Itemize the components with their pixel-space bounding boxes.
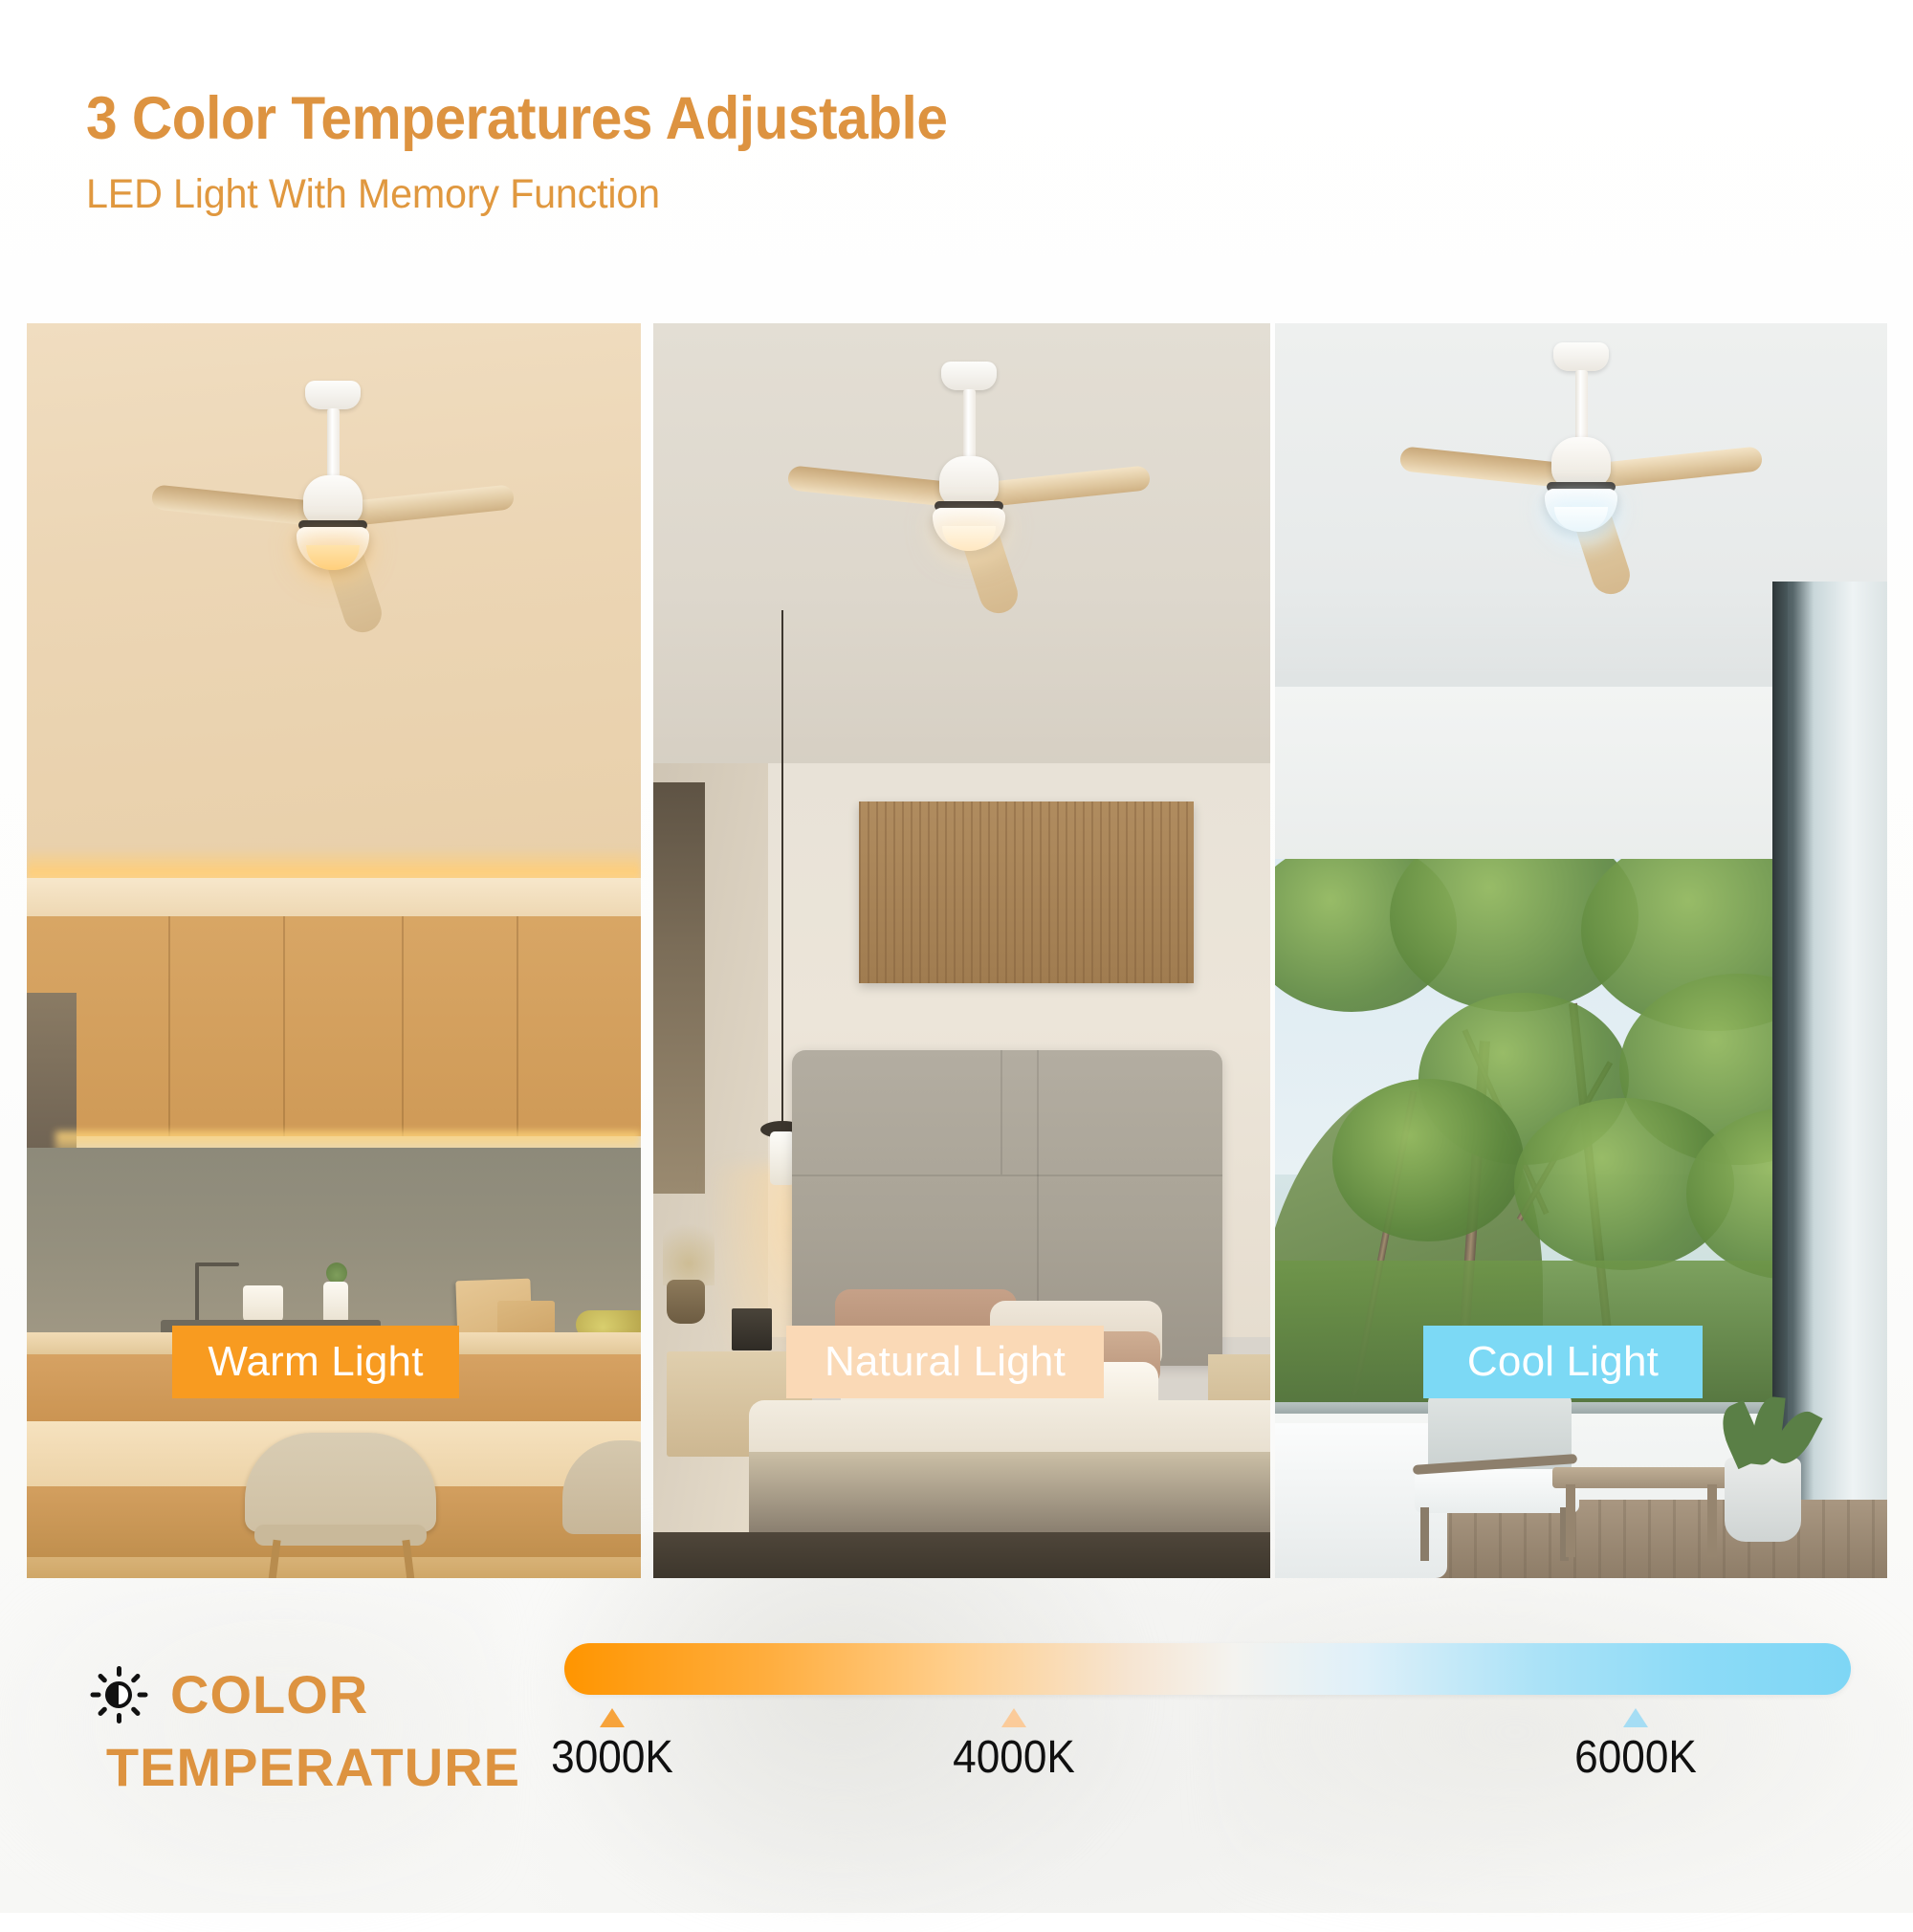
kitchen-chair (245, 1433, 436, 1578)
kitchen-wall-cabinets (27, 916, 641, 1136)
bedroom-wall-art (859, 801, 1194, 983)
kitchen-soffit (27, 878, 641, 920)
bedroom-photo-frame (732, 1308, 772, 1350)
scene-panel-natural: Natural Light (653, 323, 1270, 1578)
patio-coffee-table (1552, 1467, 1730, 1559)
kitchen-jug (323, 1282, 348, 1324)
color-temperature-line1: COLOR (170, 1668, 368, 1722)
color-temperature-line2: TEMPERATURE (88, 1741, 520, 1794)
patio-planter-pot (1725, 1458, 1801, 1542)
bedroom-dried-branch (663, 1213, 715, 1285)
bedroom-floor (653, 1532, 1270, 1578)
bedroom-pendant-cord (781, 610, 783, 1131)
color-temperature-gradient-bar (564, 1643, 1851, 1695)
kitchen-cup (243, 1285, 283, 1324)
page-subtitle: LED Light With Memory Function (86, 170, 1372, 220)
color-temperature-section: COLOR TEMPERATURE 3000K 4000K 6000K (0, 1626, 1913, 1913)
color-temperature-tick-4000k: 4000K (899, 1708, 1129, 1781)
kitchen-chair-secondary (562, 1440, 641, 1578)
brightness-sun-icon (88, 1664, 149, 1725)
badge-warm-light: Warm Light (172, 1326, 459, 1398)
bedroom-ceiling (653, 323, 1270, 773)
tick-marker-triangle (600, 1708, 625, 1727)
page-title: 3 Color Temperatures Adjustable (86, 84, 1331, 153)
badge-warm-label: Warm Light (208, 1341, 423, 1383)
bedroom-vase (667, 1280, 705, 1324)
tick-value: 4000K (909, 1735, 1120, 1781)
scene-panel-group: Warm Light (0, 323, 1913, 1578)
tick-value: 3000K (507, 1735, 718, 1781)
tick-value: 6000K (1530, 1735, 1742, 1781)
header: 3 Color Temperatures Adjustable LED Ligh… (86, 84, 1425, 220)
color-temperature-tick-6000k: 6000K (1521, 1708, 1750, 1781)
badge-natural-light: Natural Light (786, 1326, 1104, 1398)
badge-cool-label: Cool Light (1467, 1341, 1659, 1383)
kitchen-small-plant (326, 1262, 347, 1284)
patio-foliage-6 (1332, 1079, 1524, 1241)
kitchen-ceiling (27, 323, 641, 897)
color-temperature-tick-3000k: 3000K (497, 1708, 727, 1781)
kitchen-faucet (195, 1265, 199, 1325)
badge-cool-light: Cool Light (1423, 1326, 1703, 1398)
scene-panel-warm: Warm Light (27, 323, 641, 1578)
color-temperature-heading: COLOR TEMPERATURE (88, 1664, 528, 1794)
tick-marker-triangle (1001, 1708, 1026, 1727)
scene-panel-cool: Cool Light (1275, 323, 1887, 1578)
bedroom-wardrobe-recess (653, 782, 705, 1194)
kitchen-faucet-arm (195, 1262, 239, 1266)
tick-marker-triangle (1623, 1708, 1648, 1727)
badge-natural-label: Natural Light (825, 1341, 1066, 1383)
